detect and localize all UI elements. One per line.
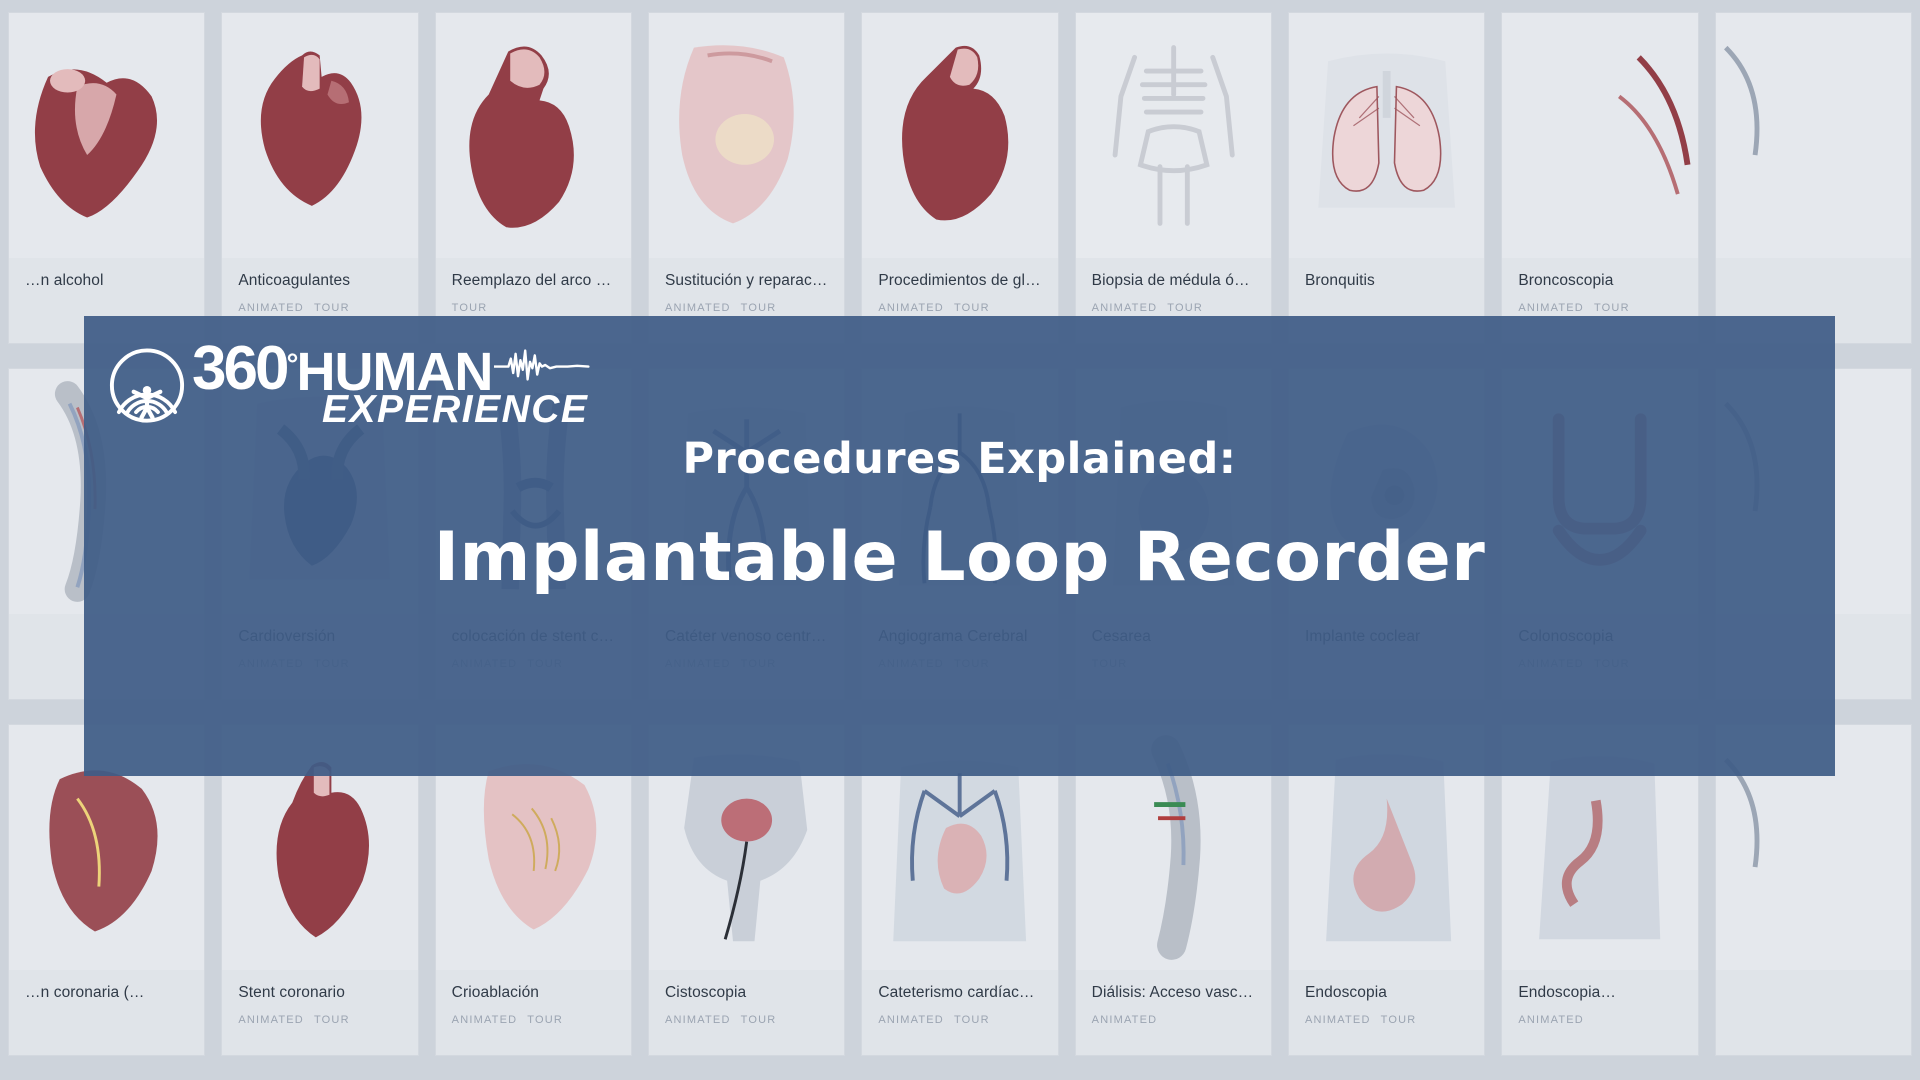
procedure-tag: ANIMATED	[665, 1014, 731, 1026]
procedure-card-title: …n alcohol	[9, 258, 204, 290]
procedure-card-title: Reemplazo del arco aórtico	[436, 258, 631, 290]
procedure-tag: ANIMATED	[1518, 302, 1584, 314]
brand-logo: 360 ° HUMAN EXPERIENCE	[108, 342, 590, 427]
procedure-tag: TOUR	[1594, 302, 1630, 314]
logo-word-experience: EXPERIENCE	[192, 393, 590, 427]
ecg-waveform-icon	[494, 345, 590, 385]
procedure-card-title: …n coronaria (…	[9, 970, 204, 1002]
procedure-card-tags	[1716, 272, 1911, 298]
logo-degree-symbol: °	[286, 352, 296, 378]
procedure-card[interactable]: Biopsia de médula óseaANIMATEDTOUR	[1075, 12, 1272, 344]
procedure-tag: TOUR	[954, 302, 990, 314]
brand-wordmark: 360 ° HUMAN EXPERIENCE	[192, 342, 590, 427]
procedure-thumbnail	[436, 13, 631, 258]
procedure-card-title: Endoscopia	[1289, 970, 1484, 1002]
procedure-card[interactable]: …n alcohol	[8, 12, 205, 344]
overlay-title-block: Procedures Explained: Implantable Loop R…	[84, 434, 1835, 597]
procedure-card-tags	[9, 1002, 204, 1028]
procedure-tag: ANIMATED	[452, 1014, 518, 1026]
procedure-card-title: Sustitución y reparación de la vá	[649, 258, 844, 290]
procedure-tag: ANIMATED	[878, 1014, 944, 1026]
procedure-thumbnail	[1289, 13, 1484, 258]
procedure-card[interactable]: Reemplazo del arco aórticoTOUR	[435, 12, 632, 344]
procedure-card[interactable]: BroncoscopiaANIMATEDTOUR	[1501, 12, 1698, 344]
procedure-card-tags: ANIMATEDTOUR	[436, 1002, 631, 1040]
procedure-tag: TOUR	[954, 1014, 990, 1026]
procedure-thumbnail	[222, 13, 417, 258]
procedure-tag: TOUR	[1381, 1014, 1417, 1026]
procedure-card-title: Broncoscopia	[1502, 258, 1697, 290]
procedure-card-tags	[9, 290, 204, 316]
procedure-tag: ANIMATED	[1092, 302, 1158, 314]
procedure-card-tags: ANIMATEDTOUR	[649, 1002, 844, 1040]
procedure-card-title: Procedimientos de globo	[862, 258, 1057, 290]
logo-number: 360	[192, 342, 286, 397]
procedure-tag: ANIMATED	[665, 302, 731, 314]
procedure-tag: TOUR	[314, 302, 350, 314]
procedure-card-title: Diálisis: Acceso vascular	[1076, 970, 1271, 1002]
procedure-card-tags: ANIMATED	[1076, 1002, 1271, 1040]
procedure-card-tags: ANIMATED	[1502, 1002, 1697, 1040]
procedure-card-title	[1716, 258, 1911, 272]
procedure-tag: TOUR	[452, 302, 488, 314]
procedure-card-title: Anticoagulantes	[222, 258, 417, 290]
procedure-card-title: Biopsia de médula ósea	[1076, 258, 1271, 290]
procedure-thumbnail	[1716, 13, 1911, 258]
procedure-tag: TOUR	[1167, 302, 1203, 314]
procedure-thumbnail	[1502, 13, 1697, 258]
procedure-card-tags: ANIMATEDTOUR	[222, 1002, 417, 1040]
procedure-card[interactable]	[1715, 12, 1912, 344]
procedure-tag: TOUR	[741, 302, 777, 314]
procedure-card-title: Stent coronario	[222, 970, 417, 1002]
procedure-tag: ANIMATED	[1305, 1014, 1371, 1026]
title-overlay: 360 ° HUMAN EXPERIENCE Procedures Explai…	[84, 316, 1835, 776]
procedure-tag: TOUR	[314, 1014, 350, 1026]
overlay-headline: Implantable Loop Recorder	[84, 518, 1835, 597]
procedure-card-tags: ANIMATEDTOUR	[862, 1002, 1057, 1040]
procedure-card-title: Endoscopia…	[1502, 970, 1697, 1002]
procedure-thumbnail	[649, 13, 844, 258]
procedure-tag: ANIMATED	[1518, 1014, 1584, 1026]
procedure-card[interactable]: Sustitución y reparación de la váANIMATE…	[648, 12, 845, 344]
procedure-tag: TOUR	[527, 1014, 563, 1026]
procedure-card[interactable]: AnticoagulantesANIMATEDTOUR	[221, 12, 418, 344]
360-human-experience-logo-icon	[108, 345, 186, 423]
procedure-card-title: Cistoscopia	[649, 970, 844, 1002]
procedure-card-tags	[1716, 984, 1911, 1010]
procedure-tag: ANIMATED	[878, 302, 944, 314]
overlay-subtitle: Procedures Explained:	[84, 434, 1835, 484]
procedure-tag: TOUR	[741, 1014, 777, 1026]
procedure-card-tags	[1289, 290, 1484, 316]
procedure-thumbnail	[9, 13, 204, 258]
procedure-card[interactable]: Bronquitis	[1288, 12, 1485, 344]
procedure-card[interactable]: Procedimientos de globoANIMATEDTOUR	[861, 12, 1058, 344]
procedure-tag: ANIMATED	[1092, 1014, 1158, 1026]
procedure-card-title	[1716, 970, 1911, 984]
procedure-card-title: Crioablación	[436, 970, 631, 1002]
procedure-tag: ANIMATED	[238, 302, 304, 314]
procedure-tag: ANIMATED	[238, 1014, 304, 1026]
procedure-thumbnail	[1076, 13, 1271, 258]
procedure-card-tags: ANIMATEDTOUR	[1289, 1002, 1484, 1040]
procedure-card-title: Cateterismo cardíaco derecho di…	[862, 970, 1057, 1002]
procedure-card-title: Bronquitis	[1289, 258, 1484, 290]
procedure-thumbnail	[862, 13, 1057, 258]
